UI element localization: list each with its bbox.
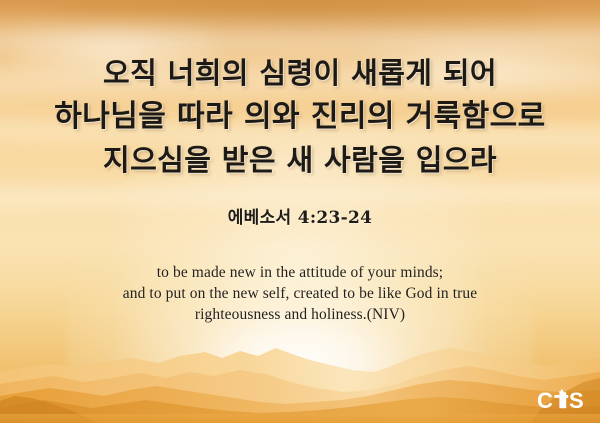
- english-verse-line-2: and to put on the new self, created to b…: [0, 283, 600, 304]
- english-verse-line-1: to be made new in the attitude of your m…: [0, 262, 600, 283]
- cts-logo: C S: [537, 387, 591, 413]
- korean-verse-line-2: 하나님을 따라 의와 진리의 거룩함으로: [0, 95, 600, 138]
- korean-verse-line-3: 지으심을 받은 새 사람을 입으라: [0, 139, 600, 182]
- english-verse-block: to be made new in the attitude of your m…: [0, 262, 600, 325]
- english-verse-line-3: righteousness and holiness.(NIV): [0, 304, 600, 325]
- logo-letter-s: S: [569, 388, 584, 413]
- korean-verse-line-1: 오직 너희의 심령이 새롭게 되어: [0, 52, 600, 95]
- logo-letter-c: C: [537, 388, 553, 413]
- cross-icon: [554, 390, 568, 409]
- verse-reference: 에베소서 4:23-24: [0, 203, 600, 228]
- verse-card: 오직 너희의 심령이 새롭게 되어 하나님을 따라 의와 진리의 거룩함으로 지…: [0, 0, 600, 423]
